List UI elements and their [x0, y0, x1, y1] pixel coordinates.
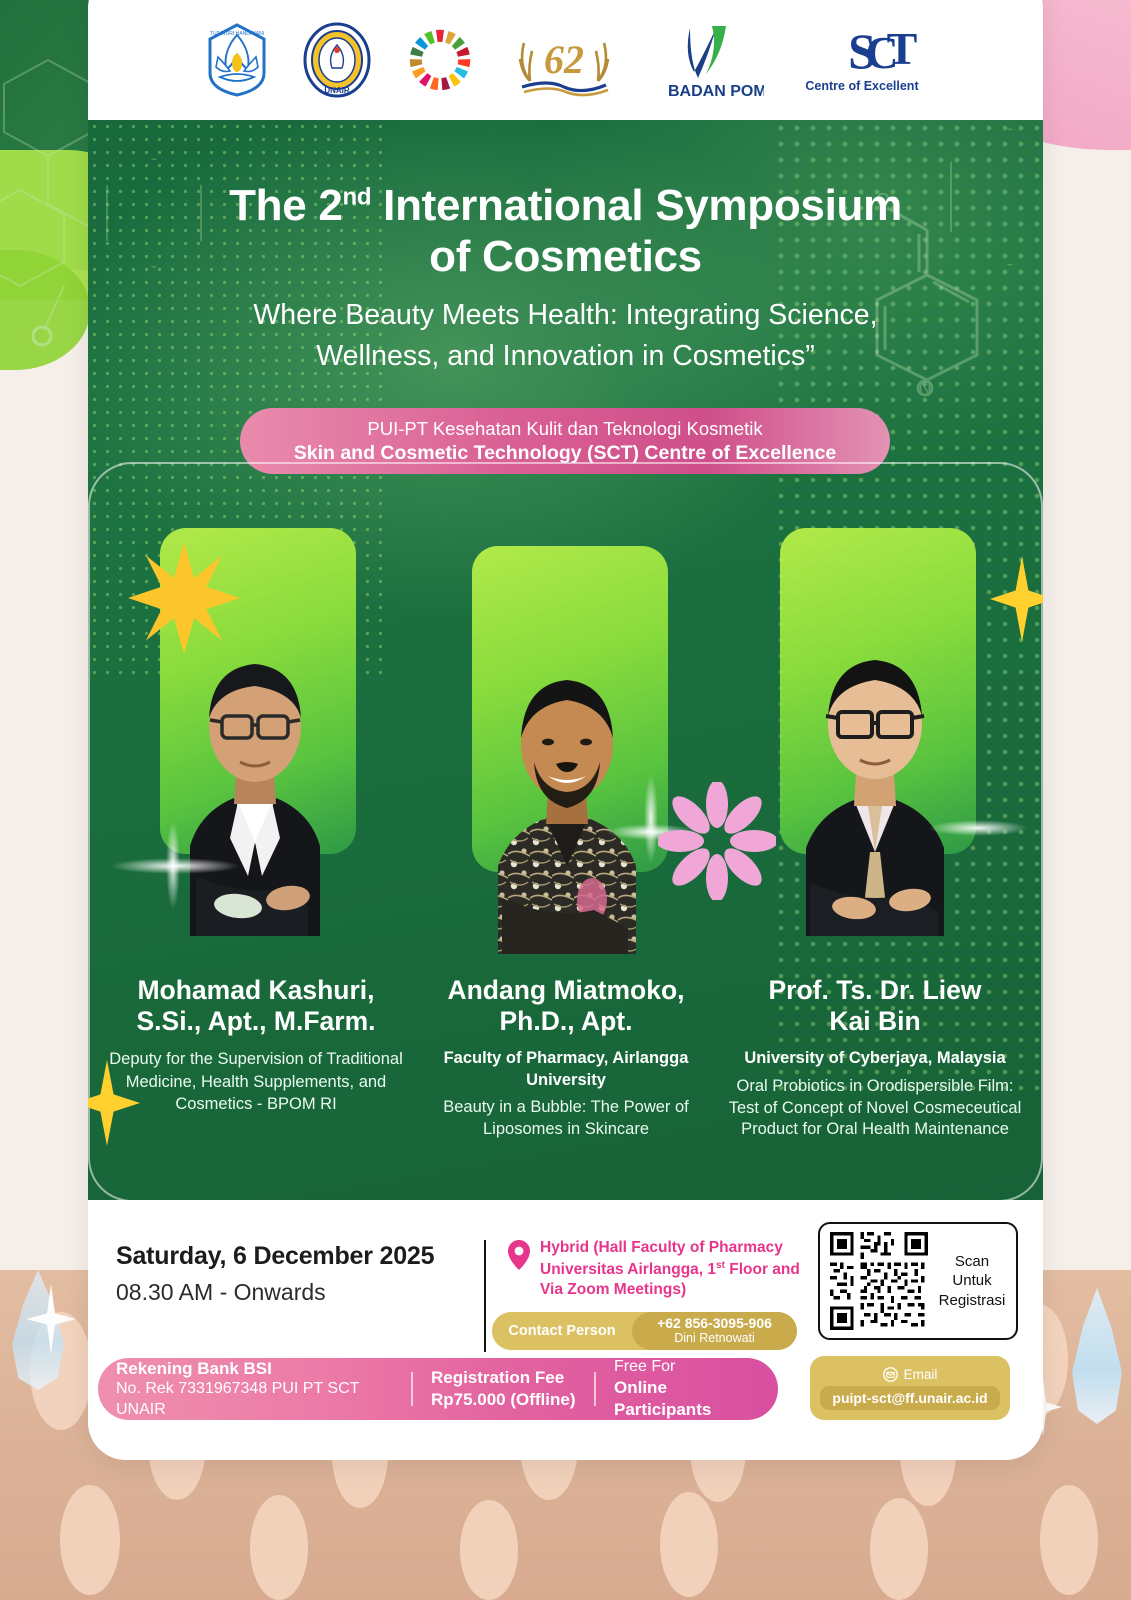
subtitle-line1: Where Beauty Meets Health: Integrating S…: [88, 296, 1043, 335]
water-droplet: [1072, 1288, 1122, 1424]
speaker-1-name-line1: Mohamad Kashuri,: [106, 975, 406, 1006]
title-block: The 2nd International Symposium of Cosme…: [88, 180, 1043, 377]
bank-account: No. Rek 7331967348 PUI PT SCT UNAIR: [116, 1379, 393, 1420]
logo-strip: TUT WURI HANDAYANI UNAIR: [88, 0, 1043, 120]
fee-value: Rp75.000 (Offline): [431, 1389, 576, 1411]
fee-cell: Registration Fee Rp75.000 (Offline): [413, 1367, 594, 1411]
contact-person-pill[interactable]: Contact Person +62 856-3095-906 Dini Ret…: [492, 1312, 797, 1350]
organizer-banner: PUI-PT Kesehatan Kulit dan Teknologi Kos…: [240, 408, 890, 474]
svg-text:Centre of Excellent: Centre of Excellent: [805, 79, 919, 93]
contact-person-details: +62 856-3095-906 Dini Retnowati: [632, 1312, 797, 1350]
poster-card: TUT WURI HANDAYANI UNAIR: [88, 0, 1043, 1460]
location-pin-icon: [508, 1240, 530, 1270]
contact-name: Dini Retnowati: [674, 1331, 755, 1346]
svg-text:N: N: [919, 378, 932, 398]
svg-text:BADAN POM: BADAN POM: [668, 83, 764, 100]
speaker-portrait-1: [130, 576, 380, 936]
speaker-photo-1: [118, 520, 388, 940]
main-title-line2: of Cosmetics: [88, 231, 1043, 282]
location-ordinal: st: [716, 1260, 725, 1271]
speaker-2-name-line2: Ph.D., Apt.: [416, 1006, 716, 1037]
pink-flower-icon: [658, 782, 776, 900]
sdg-wheel-logo: [406, 26, 474, 94]
sct-centre-of-excellent-logo: S C T Centre of Excellent: [798, 20, 926, 100]
speaker-2-topic: Beauty in a Bubble: The Power of Liposom…: [416, 1097, 716, 1141]
bank-label: Rekening Bank BSI: [116, 1358, 393, 1380]
speaker-captions: Mohamad Kashuri, S.Si., Apt., M.Farm. De…: [88, 975, 1043, 1200]
divider-vertical-1: [484, 1240, 486, 1352]
svg-text:UNAIR: UNAIR: [324, 86, 350, 95]
kemdikbud-tut-wuri-handayani-logo: TUT WURI HANDAYANI: [206, 23, 268, 97]
free-cell: Free For Online Participants: [596, 1357, 778, 1421]
contact-person-label: Contact Person: [492, 1323, 632, 1339]
location-line1: Hybrid (Hall Faculty of Pharmacy: [540, 1239, 783, 1256]
svg-text:TUT WURI HANDAYANI: TUT WURI HANDAYANI: [209, 31, 263, 37]
speaker-2-affiliation: Faculty of Pharmacy, Airlangga Universit…: [416, 1048, 716, 1091]
event-date-block: Saturday, 6 December 2025 08.30 AM - Onw…: [116, 1242, 486, 1306]
unair-62nd-anniversary-logo: 62: [508, 21, 620, 99]
speaker-1-name-line2: S.Si., Apt., M.Farm.: [106, 1006, 406, 1037]
email-header: Email: [883, 1367, 938, 1382]
main-title: The 2nd International Symposium: [88, 180, 1043, 231]
fee-label: Registration Fee: [431, 1367, 576, 1389]
svg-text:62: 62: [544, 37, 584, 82]
speaker-1-detail: Deputy for the Supervision of Traditiona…: [106, 1048, 406, 1114]
speaker-photo-3: [738, 520, 1008, 940]
speaker-3-name-line1: Prof. Ts. Dr. Liew: [725, 975, 1025, 1006]
email-box[interactable]: Email puipt-sct@ff.unair.ac.id: [810, 1356, 1010, 1420]
speaker-photos: [88, 520, 1043, 990]
green-content-panel: N O The 2nd International Symposium of C…: [88, 120, 1043, 1200]
bank-cell: Rekening Bank BSI No. Rek 7331967348 PUI…: [98, 1358, 411, 1421]
qr-caption-line1: Scan: [955, 1253, 989, 1270]
speaker-3-affiliation: University of Cyberjaya, Malaysia: [725, 1048, 1025, 1069]
qr-caption: Scan Untuk Registrasi: [938, 1252, 1006, 1310]
symposium-poster: TUT WURI HANDAYANI UNAIR: [0, 0, 1131, 1600]
qr-registration-box[interactable]: Scan Untuk Registrasi: [818, 1222, 1018, 1340]
speaker-caption-1: Mohamad Kashuri, S.Si., Apt., M.Farm. De…: [106, 975, 406, 1115]
email-label: Email: [904, 1367, 938, 1382]
speaker-2-name-line1: Andang Miatmoko,: [416, 975, 716, 1006]
event-info-bar: Saturday, 6 December 2025 08.30 AM - Onw…: [88, 1200, 1043, 1460]
water-droplet: [12, 1270, 64, 1390]
event-date: Saturday, 6 December 2025: [116, 1242, 486, 1271]
free-value: Online Participants: [614, 1377, 760, 1421]
qr-caption-line3: Registrasi: [939, 1292, 1006, 1309]
payment-ribbon: Rekening Bank BSI No. Rek 7331967348 PUI…: [98, 1358, 778, 1420]
email-icon: [883, 1367, 898, 1382]
contact-phone: +62 856-3095-906: [657, 1316, 772, 1331]
svg-text:T: T: [886, 23, 917, 74]
speaker-portrait-3: [750, 576, 1000, 936]
organizer-banner-line2: Skin and Cosmetic Technology (SCT) Centr…: [294, 442, 837, 465]
speaker-3-name-line2: Kai Bin: [725, 1006, 1025, 1037]
free-label: Free For: [614, 1357, 760, 1377]
speaker-caption-3: Prof. Ts. Dr. Liew Kai Bin University of…: [725, 975, 1025, 1141]
qr-code-icon[interactable]: [830, 1232, 928, 1330]
organizer-banner-line1: PUI-PT Kesehatan Kulit dan Teknologi Kos…: [367, 418, 762, 440]
subtitle-line2: Wellness, and Innovation in Cosmetics”: [88, 337, 1043, 376]
qr-caption-line2: Untuk: [952, 1272, 991, 1289]
location-line2-post: Floor and: [725, 1261, 800, 1278]
event-location-text: Hybrid (Hall Faculty of Pharmacy Univers…: [540, 1238, 800, 1301]
speaker-caption-2: Andang Miatmoko, Ph.D., Apt. Faculty of …: [416, 975, 716, 1141]
universitas-airlangga-logo: UNAIR: [302, 21, 372, 99]
event-location-block: Hybrid (Hall Faculty of Pharmacy Univers…: [508, 1238, 808, 1301]
email-address[interactable]: puipt-sct@ff.unair.ac.id: [820, 1386, 999, 1410]
speaker-3-topic: Oral Probiotics in Orodispersible Film: …: [725, 1076, 1025, 1141]
location-line2-pre: Universitas Airlangga, 1: [540, 1261, 716, 1278]
badan-pom-logo: BADAN POM: [654, 20, 764, 100]
event-time: 08.30 AM - Onwards: [116, 1279, 486, 1306]
speaker-portrait-2: [442, 594, 692, 954]
location-line3: Via Zoom Meetings): [540, 1281, 686, 1298]
